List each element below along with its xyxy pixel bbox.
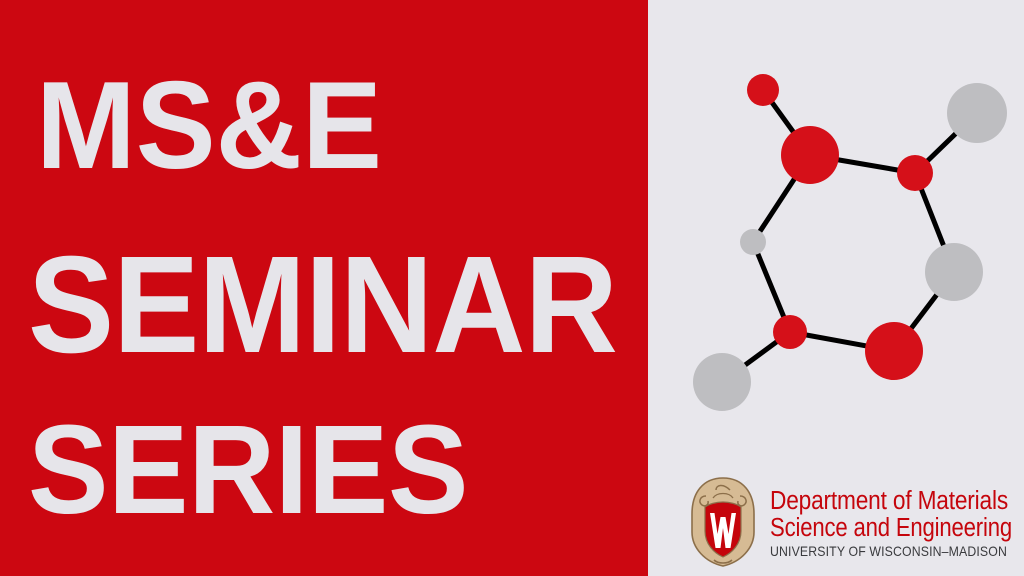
molecule-atom-red-atom-medium-upper-right <box>897 155 933 191</box>
uw-madison-logo-lockup: Department of Materials Science and Engi… <box>686 474 1006 570</box>
molecule-atom-red-atom-small-top-left <box>747 74 779 106</box>
molecule-atom-red-atom-medium-bottom-left <box>773 315 807 349</box>
molecule-atom-red-atom-large-upper-left <box>781 126 839 184</box>
molecule-atom-gray-atom-large-top-right <box>947 83 1007 143</box>
molecule-atoms <box>693 74 1007 411</box>
seminar-series-slide: MS&E SEMINAR SERIES Departm <box>0 0 1024 576</box>
title-line-seminar: SEMINAR <box>28 236 617 374</box>
title-line-series: SERIES <box>28 407 468 533</box>
molecule-atom-red-atom-large-bottom-right <box>865 322 923 380</box>
uw-wordmark: Department of Materials Science and Engi… <box>770 484 1024 561</box>
title-block: MS&E SEMINAR SERIES <box>0 0 648 576</box>
molecule-atom-gray-atom-large-bottom-left <box>693 353 751 411</box>
molecule-icon <box>648 0 1024 450</box>
department-line-1: Department of Materials <box>770 488 1008 515</box>
molecule-atom-gray-atom-large-right <box>925 243 983 301</box>
molecule-figure <box>648 0 1024 450</box>
molecule-atom-gray-atom-small-left <box>740 229 766 255</box>
uw-madison-crest-icon <box>686 476 760 568</box>
university-line: UNIVERSITY OF WISCONSIN–MADISON <box>770 543 1007 561</box>
title-line-mse: MS&E <box>36 64 382 188</box>
department-line-2: Science and Engineering <box>770 515 1012 542</box>
